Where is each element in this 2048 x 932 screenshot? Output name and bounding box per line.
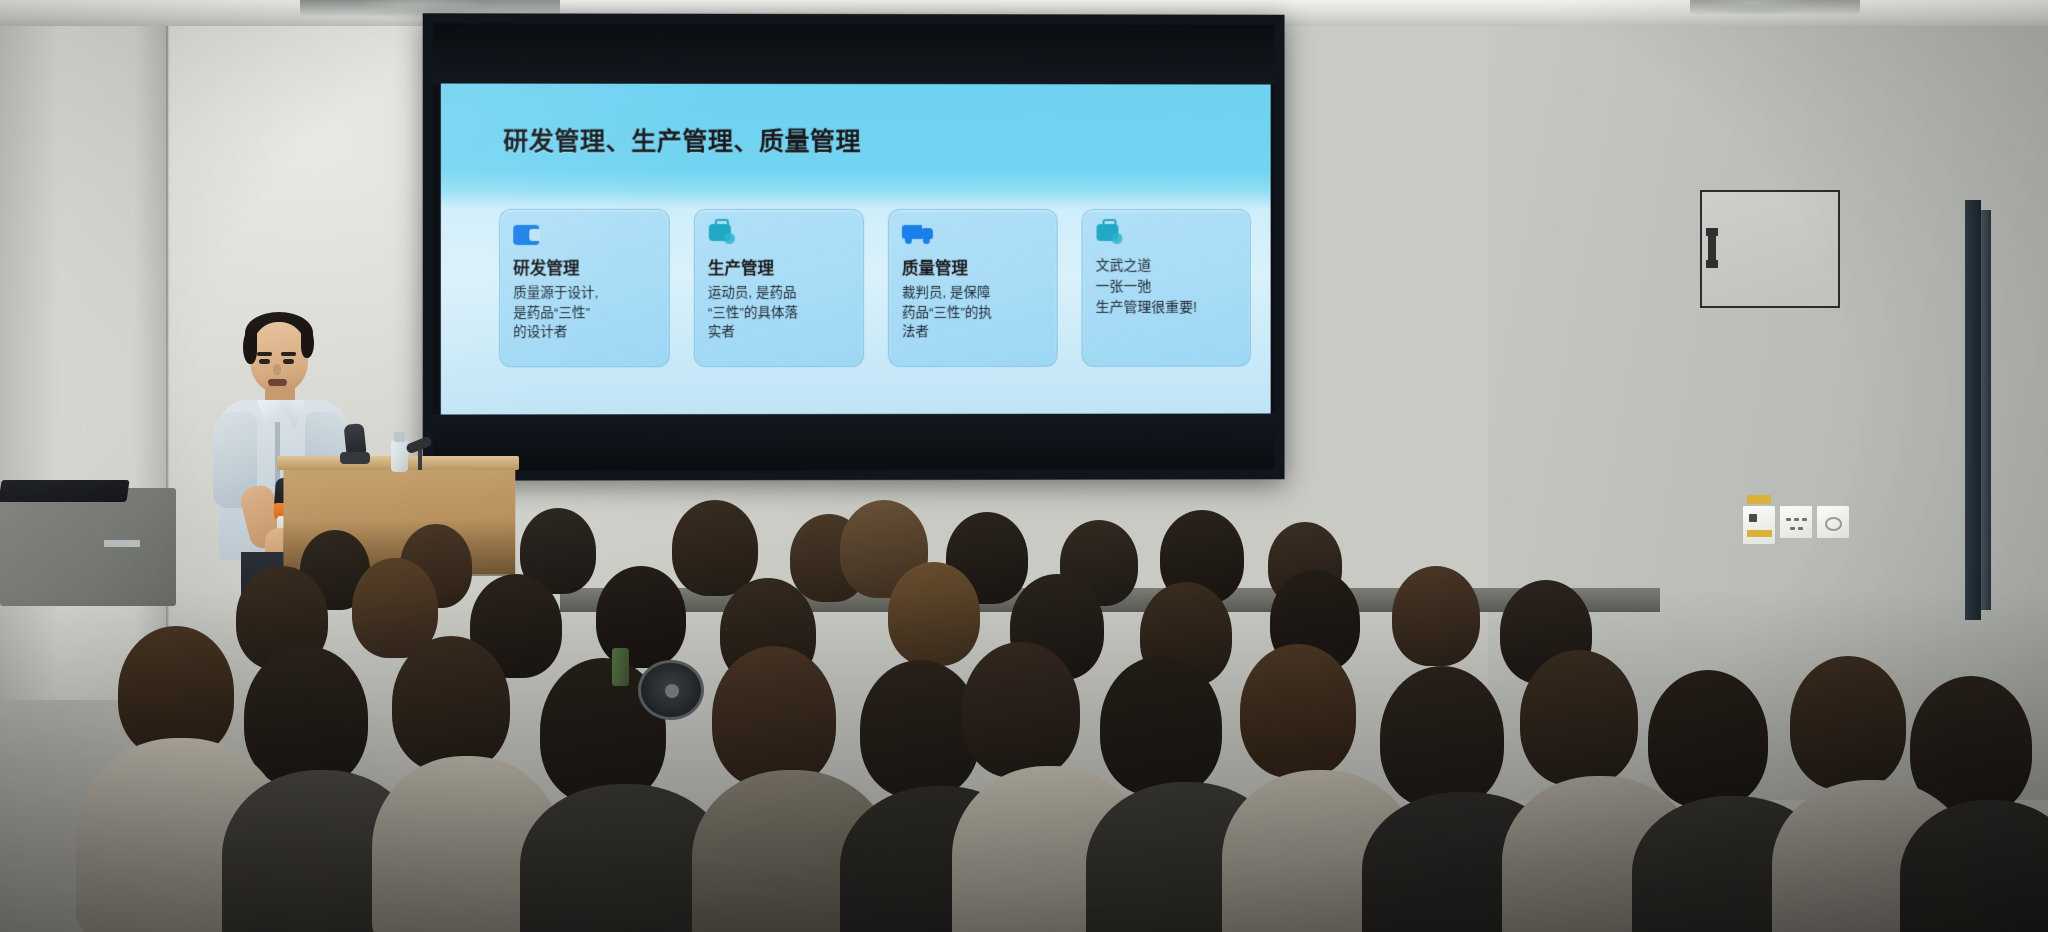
av-console-logo — [104, 540, 140, 547]
screen-bezel — [423, 13, 1285, 480]
lecture-hall-photo: 研发管理、生产管理、质量管理 研发管理 质量源于设计, 是药品“三性” 的设计者 — [0, 0, 2048, 932]
access-panel-latch-icon — [1708, 230, 1716, 266]
av-console-cabinet — [0, 488, 176, 606]
presenter-eye-right — [283, 359, 294, 364]
desk-bottle — [612, 648, 629, 686]
water-bottle-cap — [394, 432, 405, 442]
presenter-eyebrow-right — [281, 352, 296, 356]
gooseneck-microphone-stand — [418, 448, 422, 470]
presenter-hair-side-right — [301, 328, 314, 358]
audience-shadow-gradient — [0, 590, 2048, 932]
presenter-eyebrow-left — [257, 352, 272, 356]
water-bottle — [391, 440, 408, 472]
audience-head — [672, 500, 758, 596]
presenter-eye-left — [259, 359, 270, 364]
av-console-monitor — [0, 480, 130, 502]
presenter-hair-side-left — [243, 330, 257, 364]
desk-microphone-base — [340, 452, 370, 464]
presenter-nose — [273, 364, 281, 375]
wall-access-panel — [1700, 190, 1840, 308]
projection-screen[interactable]: 研发管理、生产管理、质量管理 研发管理 质量源于设计, 是药品“三性” 的设计者 — [423, 13, 1285, 480]
audience — [0, 470, 2048, 932]
desk-fan — [638, 660, 704, 720]
desk-microphone — [343, 423, 366, 455]
